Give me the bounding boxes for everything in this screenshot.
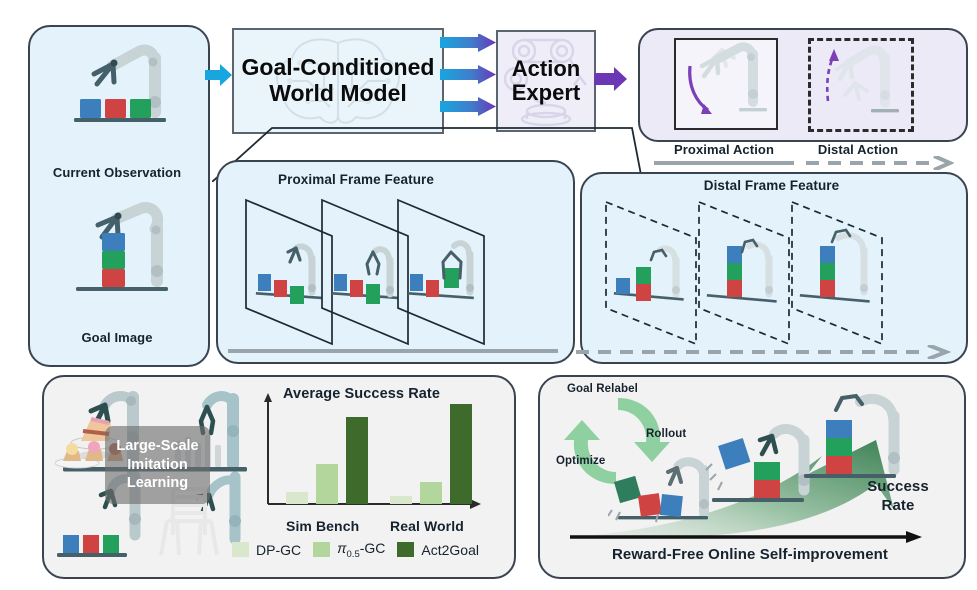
proximal-action-frame xyxy=(674,38,778,130)
success-rate-label-line1: Success xyxy=(867,478,929,495)
success-rate-label: Success Rate xyxy=(858,478,938,516)
bar-real-pi05gc xyxy=(420,482,442,504)
legend-label-dpgc: DP-GC xyxy=(256,542,301,558)
robot-arm-three-cubes-row-icon xyxy=(50,40,185,140)
action-expert-title-line2: Expert xyxy=(512,80,580,105)
action-timeline-arrow xyxy=(654,156,954,170)
bar-sim-pi05gc xyxy=(316,464,338,504)
robot-arm-three-cubes-stacked-icon xyxy=(50,195,185,305)
proximal-frame-feature-title: Proximal Frame Feature xyxy=(236,172,476,187)
overlay-text: Large-Scale Imitation Learning xyxy=(116,437,198,493)
legend-label-act2goal: Act2Goal xyxy=(421,542,479,558)
distal-frame-2 xyxy=(699,202,789,344)
chart-category-sim-bench: Sim Bench xyxy=(286,518,359,534)
cycle-label-goal-relabel: Goal Relabel xyxy=(567,383,638,395)
bar-real-act2goal xyxy=(450,404,472,504)
bar-sim-dpgc xyxy=(286,492,308,504)
success-rate-chart xyxy=(262,392,492,512)
chart-category-real-world: Real World xyxy=(390,518,464,534)
distal-action-caption: Distal Action xyxy=(792,142,924,157)
proximal-frame-2 xyxy=(322,200,408,344)
action-expert-output-arrow xyxy=(594,66,628,97)
bar-real-dpgc xyxy=(390,496,412,504)
legend-label-pi05gc: π0.5-GC xyxy=(337,540,385,560)
distal-feature-timeline xyxy=(576,345,954,359)
distal-action-frame xyxy=(808,38,914,132)
action-expert-title-line1: Action xyxy=(512,56,580,81)
legend-swatch-pi05gc xyxy=(313,542,330,557)
legend-pi-symbol: π xyxy=(337,540,346,556)
distal-action-scene-icon xyxy=(811,41,905,123)
current-observation-caption: Current Observation xyxy=(33,165,201,180)
chart-plot-area xyxy=(268,396,478,504)
legend-swatch-act2goal xyxy=(397,542,414,557)
action-expert-title: Action Expert xyxy=(512,57,580,105)
gradient-arrow-icon xyxy=(440,34,496,116)
action-expert-box: Action Expert xyxy=(496,30,596,132)
chart-legend: DP-GC π0.5-GC Act2Goal xyxy=(232,540,504,560)
world-model-title-line1: Goal-Conditioned xyxy=(242,54,435,80)
proximal-frame-1 xyxy=(246,200,332,344)
legend-swatch-dpgc xyxy=(232,542,249,557)
distal-frame-feature-title: Distal Frame Feature xyxy=(644,178,899,193)
world-model-title: Goal-Conditioned World Model xyxy=(242,55,435,107)
self-improvement-caption: Reward-Free Online Self-improvement xyxy=(548,546,952,563)
distal-frame-3 xyxy=(792,202,882,344)
legend-pi-subscript: 0.5 xyxy=(347,549,360,560)
proximal-feature-timeline xyxy=(228,345,573,357)
overlay-line-1: Large-Scale xyxy=(116,438,198,454)
world-model-title-line2: World Model xyxy=(269,80,407,106)
world-model-to-action-expert-arrows xyxy=(440,34,498,126)
distal-frame-1 xyxy=(606,202,696,344)
imitation-learning-overlay: Large-Scale Imitation Learning xyxy=(105,426,210,504)
overlay-line-2: Imitation xyxy=(127,457,187,473)
self-improvement-baseline-arrow xyxy=(570,530,925,544)
purple-arrow-icon xyxy=(594,66,628,92)
success-rate-label-line2: Rate xyxy=(882,497,915,514)
goal-image-scene xyxy=(50,195,185,305)
cyan-arrow-icon xyxy=(205,62,233,88)
figure-root: { "figure": { "title": "Act2Goal framewo… xyxy=(0,0,977,590)
world-model-box: Goal-Conditioned World Model xyxy=(232,28,444,134)
legend-pi-tail: -GC xyxy=(360,540,386,556)
bar-sim-act2goal xyxy=(346,417,368,504)
input-to-world-model-arrow xyxy=(205,62,233,93)
proximal-action-scene-icon xyxy=(676,40,771,123)
proximal-action-caption: Proximal Action xyxy=(652,142,796,157)
current-observation-scene xyxy=(50,40,185,140)
proximal-frame-3 xyxy=(398,200,484,344)
overlay-line-3: Learning xyxy=(127,475,188,491)
proximal-frames xyxy=(244,196,554,348)
distal-frames xyxy=(604,198,944,350)
goal-image-caption: Goal Image xyxy=(33,330,201,345)
